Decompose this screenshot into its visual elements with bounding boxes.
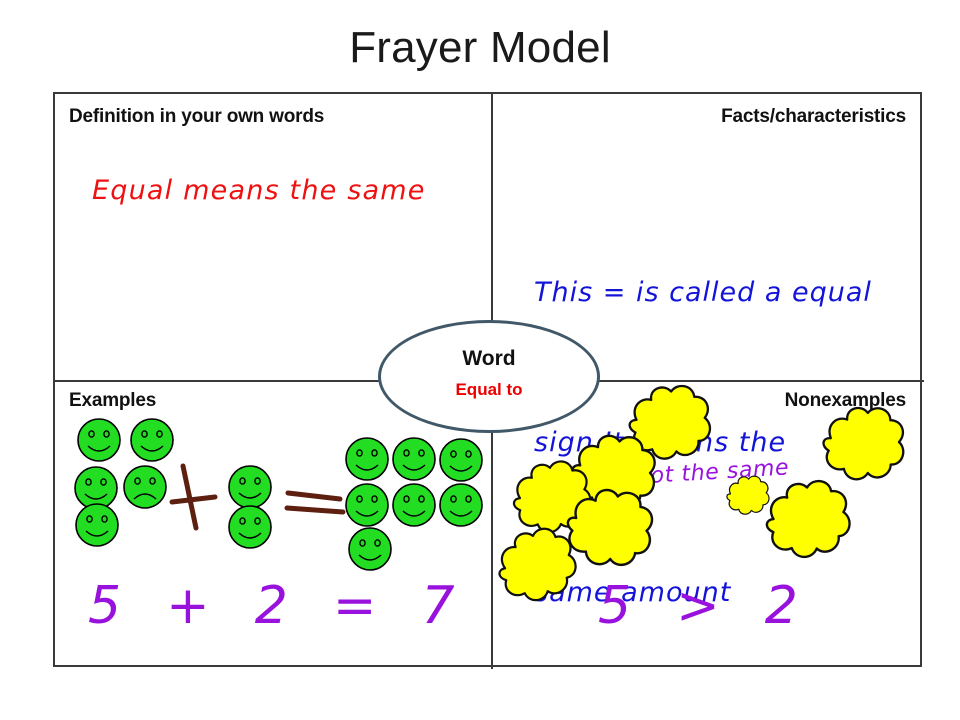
quadrant-label-facts: Facts/characteristics [721,106,906,128]
page-title: Frayer Model [0,24,960,72]
definition-handwritten-answer: Equal means the same [92,175,426,206]
center-word-oval: Word Equal to [378,320,600,433]
quadrant-label-definition: Definition in your own words [69,106,324,128]
quadrant-label-examples: Examples [69,390,156,412]
frayer-model-worksheet: Frayer Model Definition in your own word… [0,0,960,720]
facts-line-1: This = is called a equal [534,268,872,318]
nonexamples-equation: 5 > 2 [598,576,802,636]
examples-equation: 5 + 2 = 7 [88,576,459,636]
center-term-value: Equal to [381,380,597,400]
center-word-label: Word [381,347,597,371]
